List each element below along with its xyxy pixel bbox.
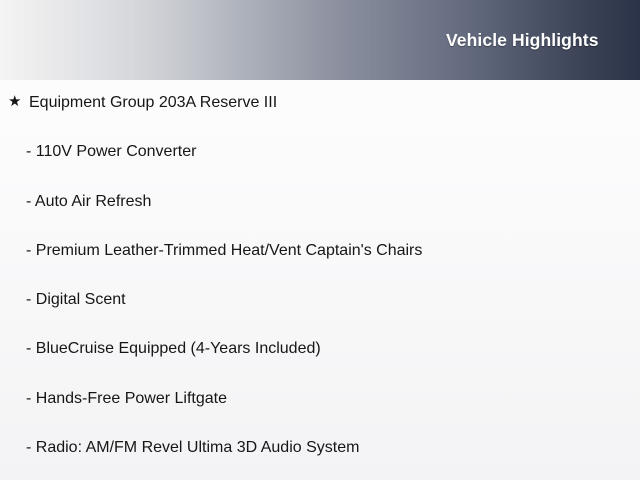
list-item: - Premium Leather-Trimmed Heat/Vent Capt… (0, 228, 640, 277)
star-bullet-icon: ★ (8, 94, 24, 110)
vehicle-highlights-list: ★Equipment Group 203A Reserve III- 110V … (0, 80, 640, 474)
list-item: - 110V Power Converter (0, 129, 640, 178)
list-item: - BlueCruise Equipped (4-Years Included) (0, 326, 640, 375)
header-banner: Vehicle Highlights (0, 0, 640, 80)
vehicle-highlights-page: Vehicle Highlights ★Equipment Group 203A… (0, 0, 640, 480)
list-item: - Radio: AM/FM Revel Ultima 3D Audio Sys… (0, 425, 640, 474)
list-item-label: - Auto Air Refresh (26, 192, 151, 211)
list-item-label: - 110V Power Converter (26, 142, 196, 161)
list-item: - Digital Scent (0, 277, 640, 326)
list-item-label: - Radio: AM/FM Revel Ultima 3D Audio Sys… (26, 438, 359, 457)
list-item-label: - BlueCruise Equipped (4-Years Included) (26, 339, 321, 358)
list-item: - Hands-Free Power Liftgate (0, 376, 640, 425)
list-item-label: Equipment Group 203A Reserve III (29, 93, 277, 112)
list-item-label: - Premium Leather-Trimmed Heat/Vent Capt… (26, 241, 422, 260)
page-title: Vehicle Highlights (446, 30, 599, 51)
list-item: ★Equipment Group 203A Reserve III (0, 80, 640, 129)
list-item: - Auto Air Refresh (0, 179, 640, 228)
list-item-label: - Hands-Free Power Liftgate (26, 389, 227, 408)
list-item-label: - Digital Scent (26, 290, 126, 309)
